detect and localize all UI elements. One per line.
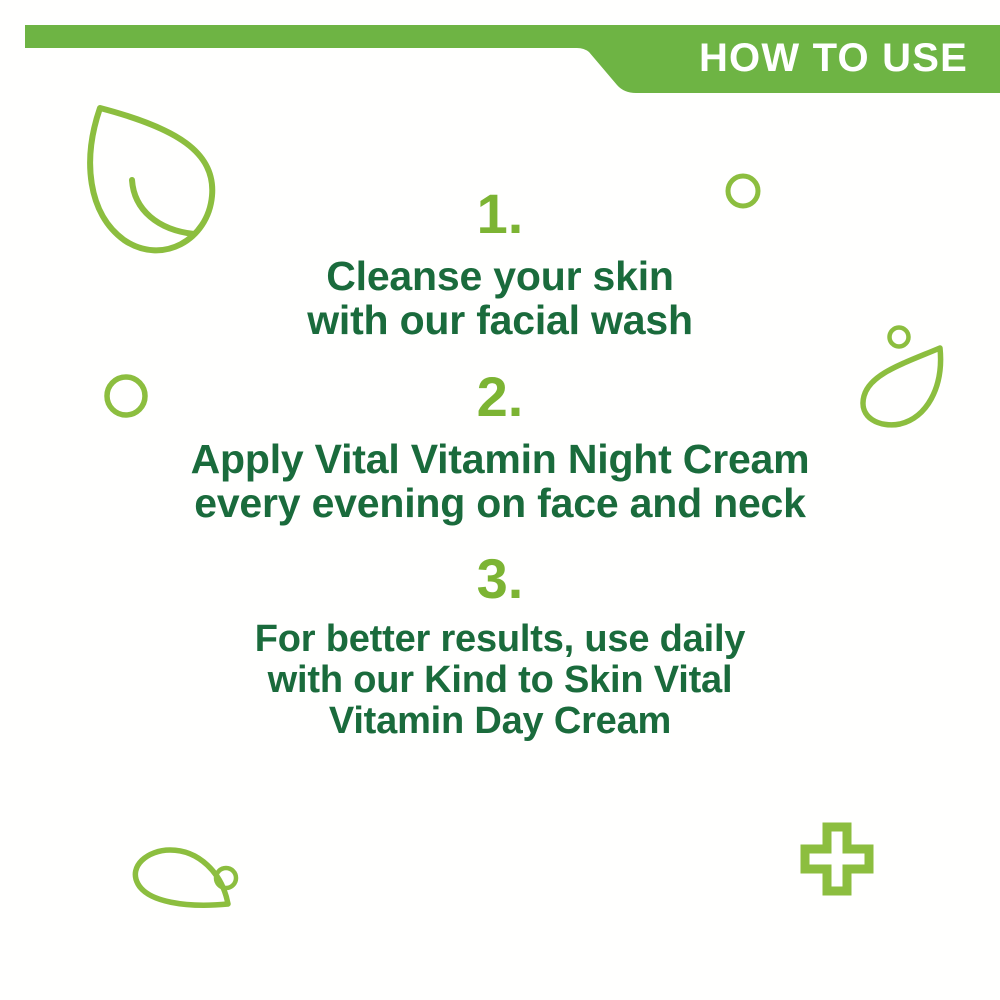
step-text-3: For better results, use daily with our K… (0, 619, 1000, 742)
step-text-2: Apply Vital Vitamin Night Cream every ev… (0, 437, 1000, 526)
step-item-1: 1. Cleanse your skin with our facial was… (0, 186, 1000, 343)
small-circle-icon-bottom-left (212, 864, 240, 892)
droplet-icon-bottom-left (128, 842, 240, 920)
step-number-1: 1. (0, 186, 1000, 242)
step-item-3: 3. For better results, use daily with ou… (0, 551, 1000, 742)
step-number-2: 2. (0, 369, 1000, 425)
infographic-canvas: HOW TO USE (0, 0, 1000, 1000)
plus-icon-bottom-right (800, 822, 874, 896)
step-text-1: Cleanse your skin with our facial wash (0, 254, 1000, 343)
steps-list: 1. Cleanse your skin with our facial was… (0, 186, 1000, 742)
step-number-3: 3. (0, 551, 1000, 607)
step-item-2: 2. Apply Vital Vitamin Night Cream every… (0, 369, 1000, 526)
page-title: HOW TO USE (699, 38, 968, 78)
